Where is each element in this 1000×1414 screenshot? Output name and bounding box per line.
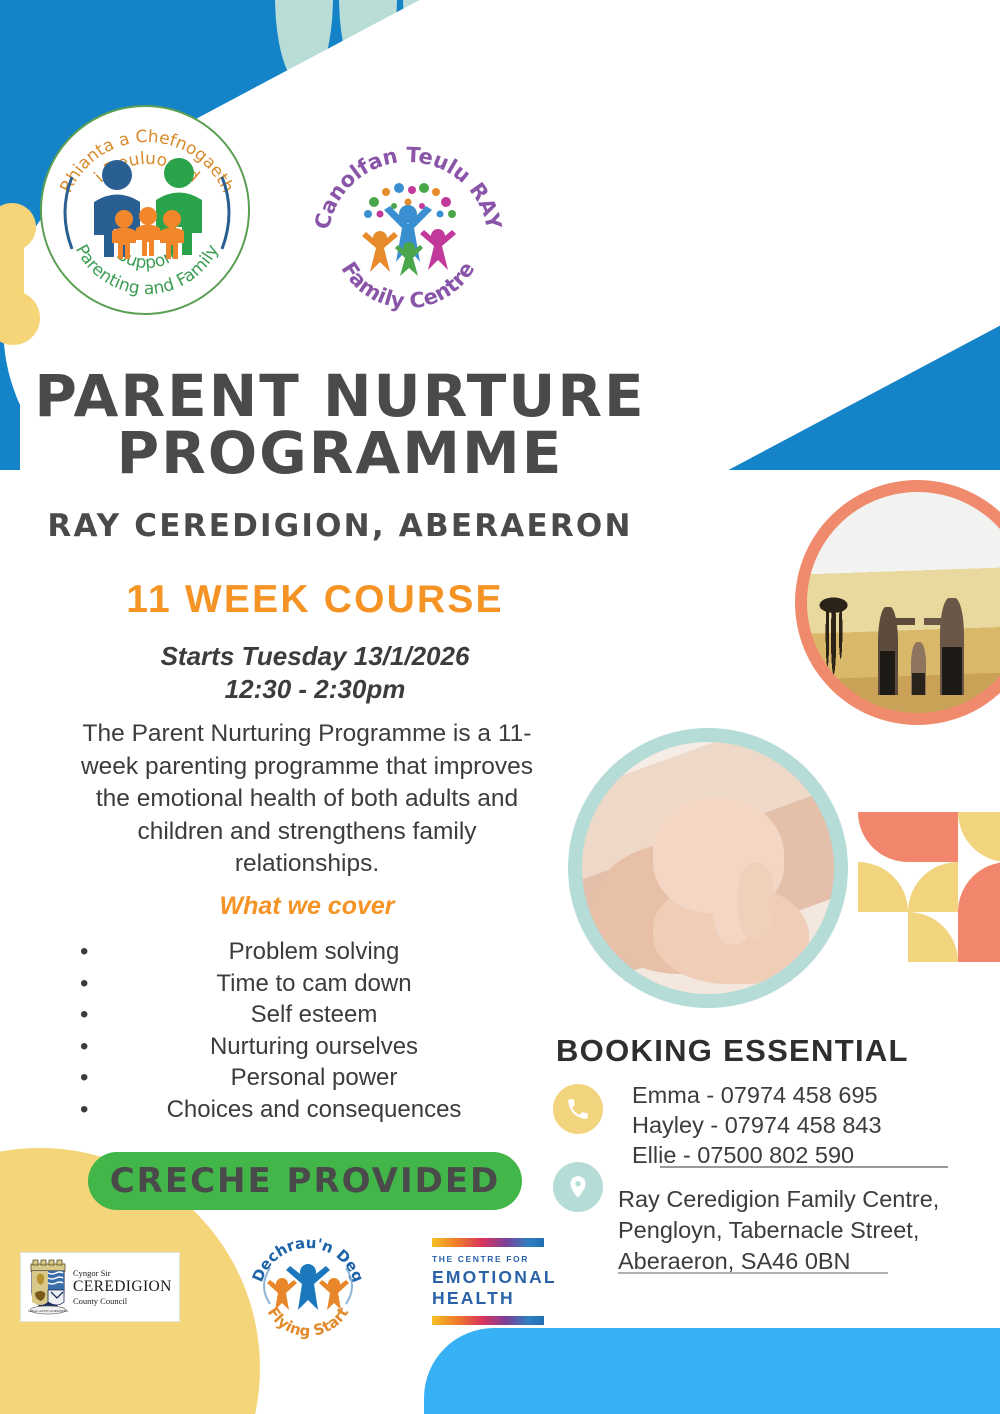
divider-bottom: [618, 1272, 888, 1274]
blue-wave-decoration-bottom: [424, 1328, 1000, 1414]
council-line-3: County Council: [73, 1296, 172, 1306]
course-start-details: Starts Tuesday 13/1/2026 12:30 - 2:30pm: [30, 640, 600, 705]
list-item: • Time to cam down: [80, 968, 550, 1000]
page-title: PARENT NURTURE PROGRAMME: [30, 368, 650, 482]
list-item-label: Problem solving: [102, 936, 550, 968]
rainbow-bar-bottom-icon: [432, 1316, 544, 1325]
address-line-1: Ray Ceredigion Family Centre,: [618, 1184, 958, 1215]
list-item: • Self esteem: [80, 999, 550, 1031]
contact-hayley: Hayley - 07974 458 843: [632, 1110, 952, 1140]
page-title-line1: PARENT NURTURE: [30, 368, 650, 425]
council-logo-text: Cyngor Sir CEREDIGION County Council: [73, 1268, 172, 1306]
svg-text:Flying Start: Flying Start: [264, 1304, 352, 1339]
list-item-label: Time to cam down: [102, 968, 550, 1000]
address-line-2: Pengloyn, Tabernacle Street,: [618, 1215, 958, 1246]
what-we-cover-heading: What we cover: [72, 892, 542, 921]
list-item: • Personal power: [80, 1062, 550, 1094]
canolfan-teulu-ray-family-centre-logo: Canolfan Teulu RAY Family Centre: [312, 132, 504, 324]
booking-heading: BOOKING ESSENTIAL: [556, 1033, 909, 1069]
list-item: • Nurturing ourselves: [80, 1031, 550, 1063]
contact-phone-list: Emma - 07974 458 695 Hayley - 07974 458 …: [632, 1080, 952, 1170]
list-item-label: Nurturing ourselves: [102, 1031, 550, 1063]
council-line-1: Cyngor Sir: [73, 1268, 172, 1278]
list-item-label: Personal power: [102, 1062, 550, 1094]
poster-root: Rhianta a Chefnogaeth i Deuluoedd Parent…: [0, 0, 1000, 1414]
parenting-and-family-support-logo: Rhianta a Chefnogaeth i Deuluoedd Parent…: [40, 105, 250, 315]
page-subtitle: RAY CEREDIGION, ABERAERON: [30, 508, 650, 544]
dechraun-deg-flying-start-logo: Dechrau'n Deg Flying Start: [248, 1234, 368, 1339]
quarter-circle-decoration: [858, 812, 1000, 972]
list-item: • Choices and consequences: [80, 1094, 550, 1126]
ceredigion-county-council-logo: GORAU AWEN GWIRIONEDD Cyngor Sir CEREDIG…: [20, 1252, 180, 1322]
ceh-tagline: THE CENTRE FOR: [432, 1254, 572, 1264]
programme-description: The Parent Nurturing Programme is a 11-w…: [72, 718, 542, 881]
start-date: Starts Tuesday 13/1/2026: [30, 640, 600, 673]
creche-provided-badge: CRECHE PROVIDED: [88, 1152, 522, 1210]
list-item-label: Self esteem: [102, 999, 550, 1031]
phone-icon: [553, 1084, 603, 1134]
course-length-banner: 11 WEEK COURSE: [30, 578, 600, 622]
what-we-cover-list: • Problem solving • Time to cam down • S…: [80, 936, 550, 1125]
contact-emma: Emma - 07974 458 695: [632, 1080, 952, 1110]
bullet-icon: •: [80, 1062, 102, 1094]
start-time: 12:30 - 2:30pm: [30, 673, 600, 706]
bullet-icon: •: [80, 936, 102, 968]
photo-hands: [568, 728, 848, 1008]
bullet-icon: •: [80, 999, 102, 1031]
list-item-label: Choices and consequences: [102, 1094, 550, 1126]
divider-top: [660, 1166, 948, 1168]
venue-address: Ray Ceredigion Family Centre, Pengloyn, …: [618, 1184, 958, 1277]
map-pin-icon: [553, 1162, 603, 1212]
ceh-line-2: HEALTH: [432, 1288, 572, 1309]
ceredigion-crest-icon: GORAU AWEN GWIRIONEDD: [27, 1258, 69, 1316]
bullet-icon: •: [80, 1031, 102, 1063]
list-item: • Problem solving: [80, 936, 550, 968]
rainbow-bar-top-icon: [432, 1238, 544, 1247]
svg-text:GORAU AWEN GWIRIONEDD: GORAU AWEN GWIRIONEDD: [28, 1309, 69, 1313]
council-line-2: CEREDIGION: [73, 1278, 172, 1296]
bullet-icon: •: [80, 1094, 102, 1126]
page-title-line2: PROGRAMME: [30, 425, 650, 482]
bullet-icon: •: [80, 968, 102, 1000]
the-centre-for-emotional-health-logo: THE CENTRE FOR EMOTIONAL HEALTH: [432, 1238, 572, 1322]
ceh-line-1: EMOTIONAL: [432, 1267, 572, 1288]
